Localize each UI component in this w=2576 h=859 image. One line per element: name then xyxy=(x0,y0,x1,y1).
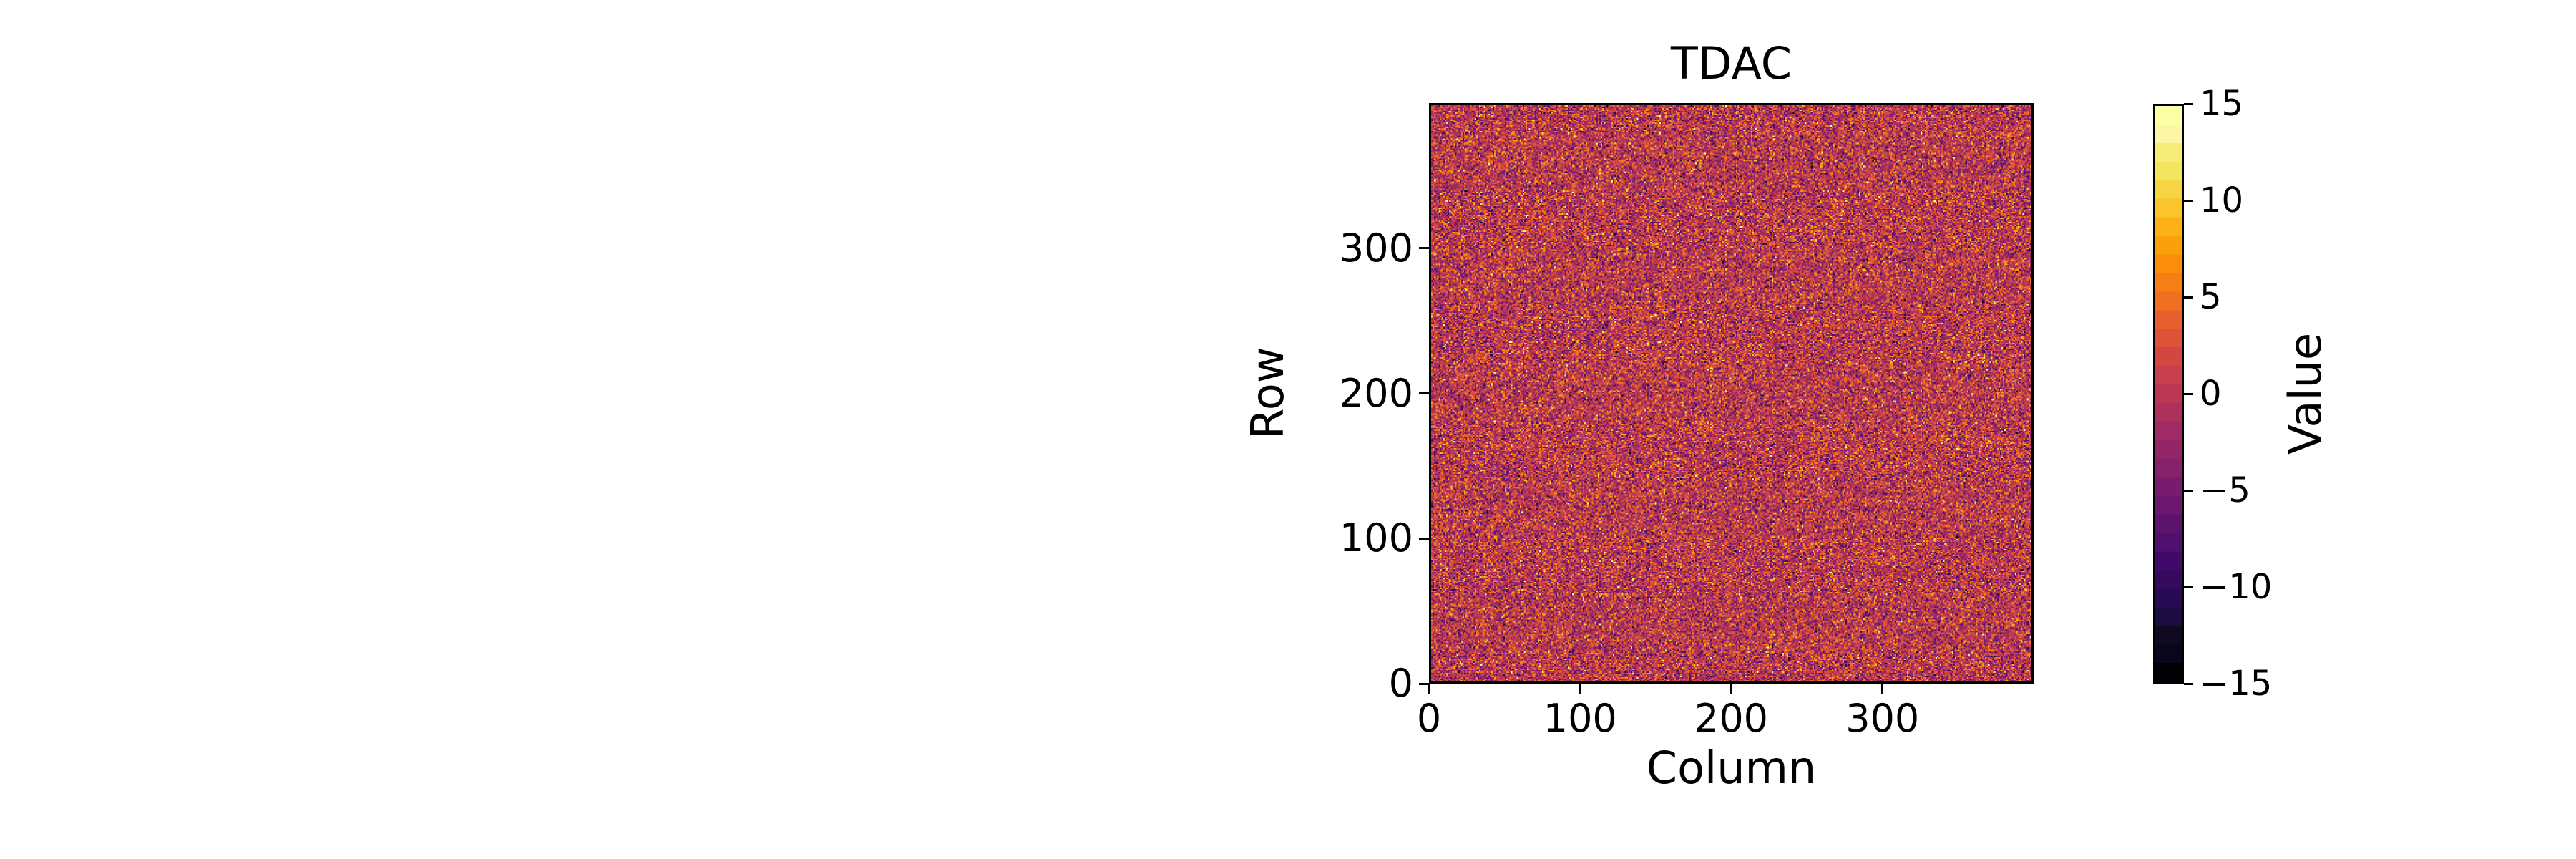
y-tick-label: 0 xyxy=(1293,664,1413,703)
colorbar-tick-label: 0 xyxy=(2200,377,2222,411)
colorbar-tick-label: 10 xyxy=(2200,183,2243,218)
page-title: TDAC xyxy=(1429,42,2034,86)
figure-canvas: TDAC 0100200300 0100200300 Column Row −1… xyxy=(0,0,2576,859)
x-tick-label: 100 xyxy=(1543,699,1617,738)
y-tick-label: 200 xyxy=(1293,374,1413,413)
colorbar-label: Value xyxy=(2283,333,2328,455)
x-axis-label: Column xyxy=(1429,746,2034,790)
colorbar-tick-label: −10 xyxy=(2200,570,2272,604)
colorbar-tick-mark xyxy=(2184,103,2193,105)
x-tick-mark xyxy=(1881,684,1883,694)
y-tick-mark xyxy=(1419,392,1429,394)
x-tick-label: 0 xyxy=(1417,699,1441,738)
x-tick-mark xyxy=(1428,684,1430,694)
colorbar-tick-label: 5 xyxy=(2200,280,2222,314)
colorbar[interactable] xyxy=(2153,104,2184,684)
x-tick-mark xyxy=(1579,684,1581,694)
colorbar-tick-mark xyxy=(2184,296,2193,299)
colorbar-tick-mark xyxy=(2184,200,2193,202)
colorbar-tick-label: −15 xyxy=(2200,666,2272,701)
y-tick-mark xyxy=(1419,538,1429,540)
y-tick-mark xyxy=(1419,683,1429,685)
colorbar-gradient xyxy=(2155,106,2182,681)
heatmap-image xyxy=(1431,105,2031,681)
colorbar-tick-label: −5 xyxy=(2200,473,2250,508)
colorbar-tick-mark xyxy=(2184,586,2193,588)
x-tick-label: 200 xyxy=(1694,699,1768,738)
colorbar-tick-label: 15 xyxy=(2200,87,2243,121)
x-tick-label: 300 xyxy=(1845,699,1919,738)
colorbar-tick-mark xyxy=(2184,683,2193,685)
x-tick-mark xyxy=(1730,684,1732,694)
colorbar-tick-mark xyxy=(2184,393,2193,395)
y-axis-label: Row xyxy=(1246,347,1290,440)
colorbar-tick-mark xyxy=(2184,490,2193,492)
heatmap-axes[interactable] xyxy=(1429,103,2034,684)
y-tick-mark xyxy=(1419,247,1429,249)
y-tick-label: 300 xyxy=(1293,229,1413,268)
y-tick-label: 100 xyxy=(1293,519,1413,558)
